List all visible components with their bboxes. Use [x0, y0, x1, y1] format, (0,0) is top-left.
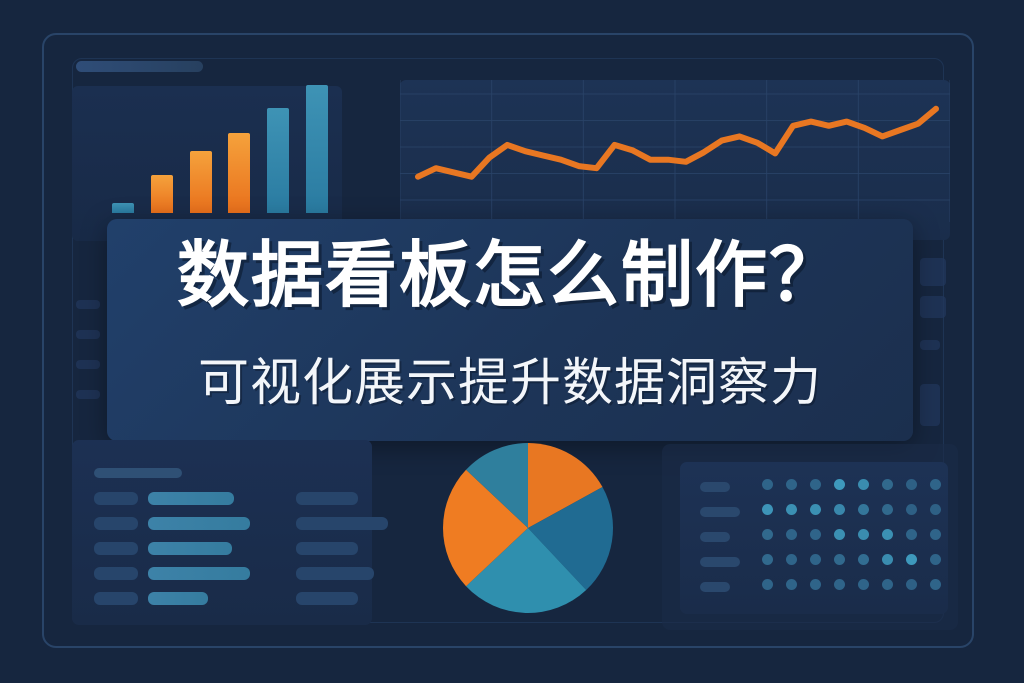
heatmap-dot: [930, 529, 941, 540]
heatmap-dot: [882, 554, 893, 565]
bar-chart-bar: [267, 108, 289, 213]
heatmap-dot: [810, 579, 821, 590]
decor-strip: [920, 258, 946, 286]
heatmap-dot: [786, 579, 797, 590]
decor-strip: [76, 360, 100, 369]
heatmap-row-label: [700, 557, 740, 567]
pie-chart-slices: [443, 443, 613, 613]
table-row-bar-cell: [148, 542, 232, 555]
heatmap-dot: [786, 479, 797, 490]
heatmap-dot: [858, 554, 869, 565]
dashboard-header-placeholder: [76, 61, 203, 72]
heatmap-dot: [810, 479, 821, 490]
pie-chart: [442, 442, 614, 614]
bar-chart-bar: [228, 133, 250, 213]
page-title: 数据看板怎么制作？: [107, 233, 913, 321]
heatmap-dot: [762, 579, 773, 590]
decor-strip: [76, 390, 100, 399]
heatmap-dot: [786, 529, 797, 540]
line-chart: [400, 80, 950, 240]
table-row-bar-cell: [148, 567, 250, 580]
heatmap-dot: [834, 529, 845, 540]
table-row-note-cell: [296, 492, 358, 505]
page-subtitle: 可视化展示提升数据洞察力: [107, 341, 913, 415]
data-table-title-placeholder: [94, 468, 182, 478]
heatmap-dot: [786, 504, 797, 515]
heatmap-dot: [858, 504, 869, 515]
heatmap-dot: [810, 529, 821, 540]
line-chart-gridlines: [400, 80, 950, 222]
heatmap-dot: [882, 579, 893, 590]
decor-strip: [76, 330, 100, 339]
heatmap-dot: [858, 529, 869, 540]
decor-strip: [920, 296, 946, 318]
heatmap-row-label: [700, 507, 740, 517]
heatmap-dot: [930, 554, 941, 565]
heatmap-dot: [906, 579, 917, 590]
table-row-note-cell: [296, 542, 358, 555]
table-row-label-cell: [94, 592, 138, 605]
heatmap-dot: [858, 579, 869, 590]
heatmap-dot: [834, 479, 845, 490]
table-row-note-cell: [296, 592, 358, 605]
decor-strip: [920, 384, 940, 426]
heatmap-row-label: [700, 582, 730, 592]
decor-strip: [76, 300, 100, 309]
heatmap-dot: [906, 529, 917, 540]
heatmap-dot: [810, 504, 821, 515]
heatmap-dot: [906, 504, 917, 515]
heatmap-row-label: [700, 482, 730, 492]
heatmap-dot: [882, 529, 893, 540]
heatmap-dot: [834, 504, 845, 515]
heatmap-dot: [930, 579, 941, 590]
heatmap-dot: [882, 479, 893, 490]
heatmap-dot: [834, 554, 845, 565]
heatmap-dot: [858, 479, 869, 490]
bar-chart-bar: [151, 175, 173, 213]
heatmap-dot: [906, 554, 917, 565]
table-row-label-cell: [94, 492, 138, 505]
heatmap-dot: [834, 579, 845, 590]
bar-chart-bar: [112, 203, 134, 213]
heatmap-dot: [810, 554, 821, 565]
table-row-bar-cell: [148, 592, 208, 605]
table-row-note-cell: [296, 567, 374, 580]
heatmap-dot: [930, 479, 941, 490]
bar-chart-bar: [306, 85, 328, 213]
table-row-bar-cell: [148, 517, 250, 530]
title-banner: 数据看板怎么制作？ 可视化展示提升数据洞察力: [107, 219, 913, 441]
heatmap-dot: [762, 479, 773, 490]
heatmap-dot: [906, 479, 917, 490]
table-row-label-cell: [94, 517, 138, 530]
table-row-label-cell: [94, 542, 138, 555]
heatmap-dot: [786, 554, 797, 565]
heatmap-row-label: [700, 532, 730, 542]
heatmap-dot: [762, 554, 773, 565]
pie-chart-svg: [442, 442, 614, 614]
bar-chart: [95, 78, 345, 213]
table-row-note-cell: [296, 517, 388, 530]
heatmap-dot: [930, 504, 941, 515]
table-row-label-cell: [94, 567, 138, 580]
heatmap-dot: [882, 504, 893, 515]
bar-chart-bar: [190, 151, 212, 213]
dashboard-cover-image: 数据看板怎么制作？ 可视化展示提升数据洞察力: [0, 0, 1024, 683]
table-row-bar-cell: [148, 492, 234, 505]
heatmap-dot: [762, 529, 773, 540]
decor-strip: [920, 340, 940, 350]
heatmap-dot: [762, 504, 773, 515]
